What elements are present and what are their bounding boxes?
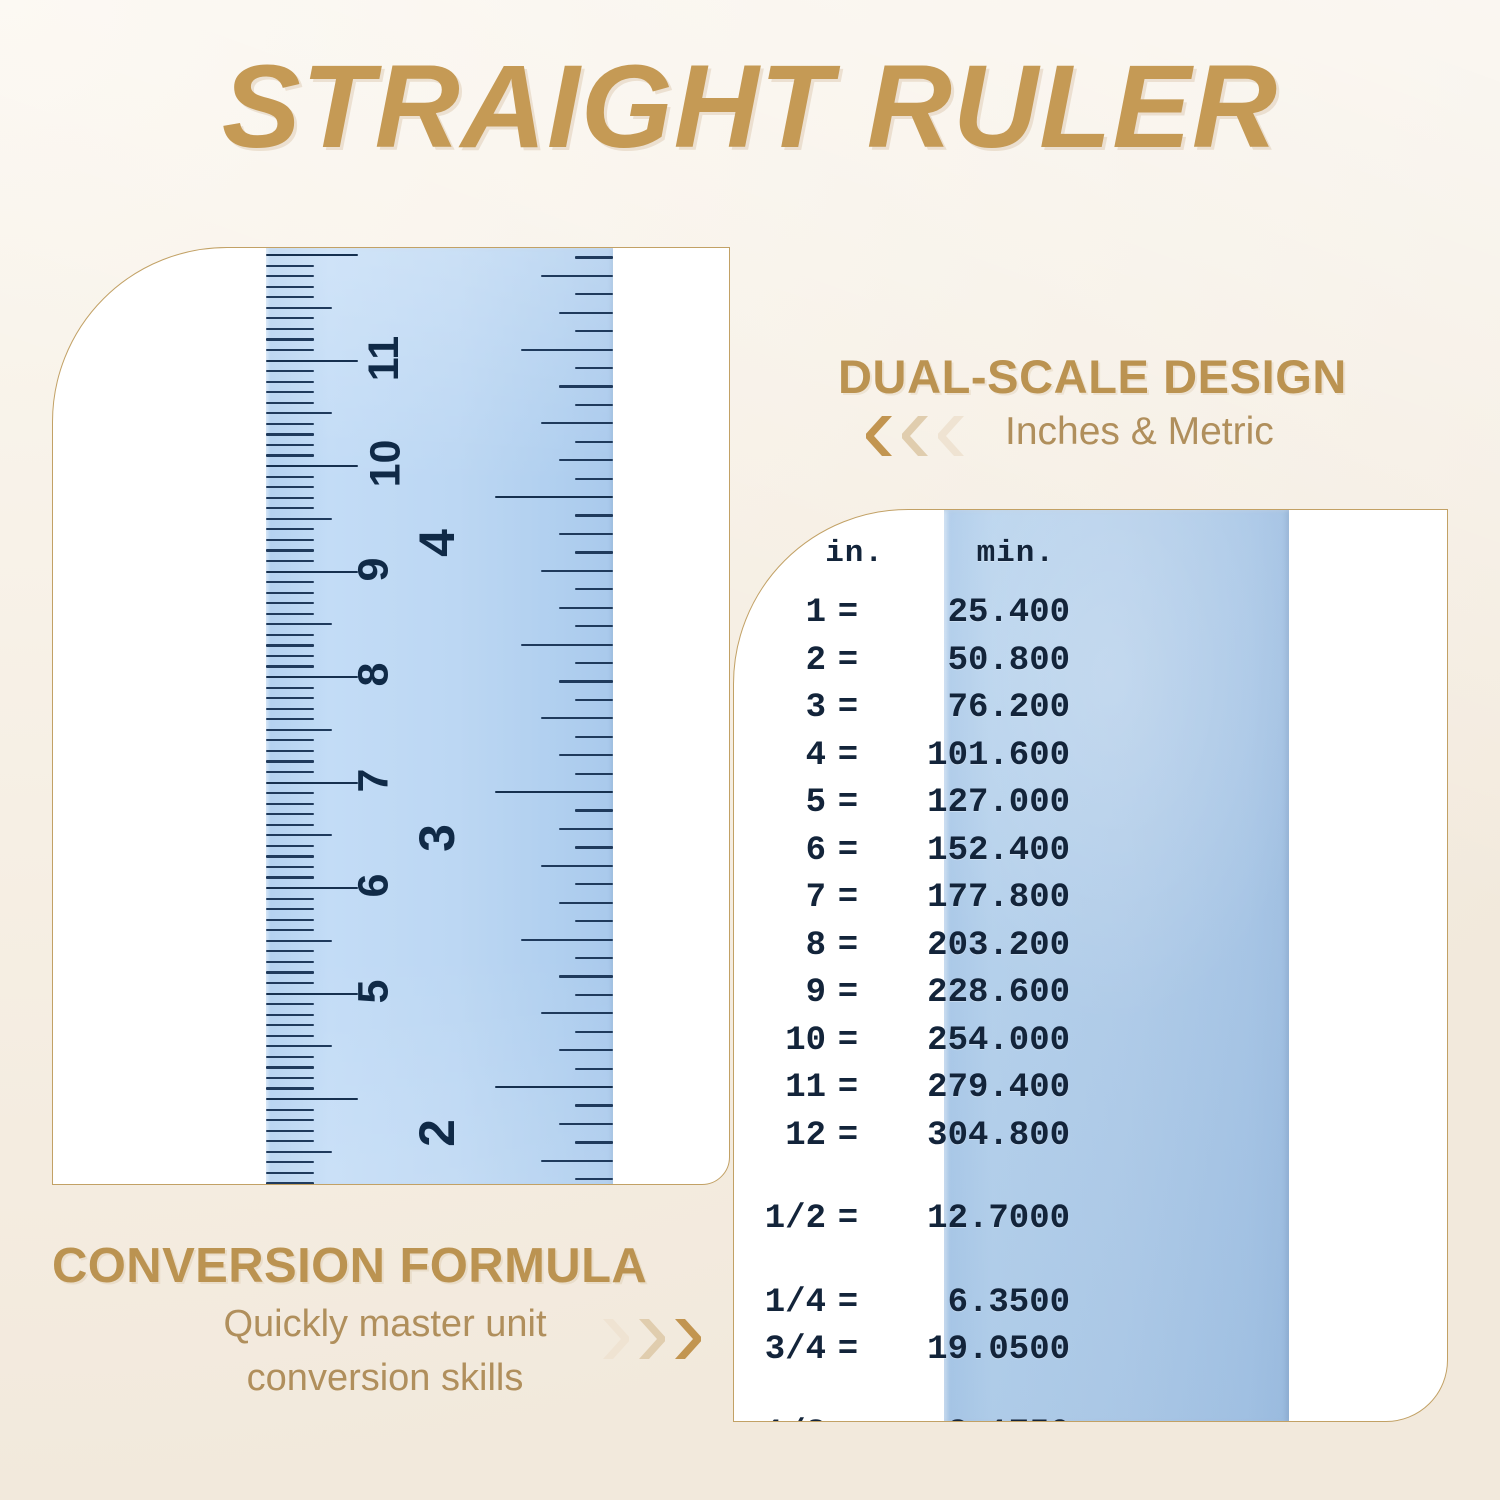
conversion-inches: 1/4	[734, 1284, 826, 1322]
equals-sign: =	[826, 1069, 870, 1107]
equals-sign: =	[826, 1331, 870, 1369]
metric-scale-number: 5	[349, 979, 398, 1003]
equals-sign: =	[826, 832, 870, 870]
conversion-inches: 2	[734, 642, 826, 680]
conversion-millimeters: 12.7000	[870, 1200, 1070, 1238]
conversion-millimeters: 127.000	[870, 784, 1070, 822]
dual-scale-heading: DUAL-SCALE DESIGN	[838, 349, 1347, 404]
conversion-inches: 3/4	[734, 1331, 826, 1369]
dual-scale-subtitle: Inches & Metric	[1005, 410, 1274, 454]
conversion-millimeters: 254.000	[870, 1022, 1070, 1060]
chevron-icon	[938, 414, 970, 458]
chevron-icon	[866, 414, 898, 458]
conversion-millimeters: 304.800	[870, 1117, 1070, 1155]
equals-sign: =	[826, 1022, 870, 1060]
conversion-inches: 7	[734, 879, 826, 917]
equals-sign: =	[826, 1200, 870, 1238]
metric-scale-number: 6	[349, 874, 398, 898]
conversion-inches: 3	[734, 689, 826, 727]
conversion-inches: 11	[734, 1069, 826, 1107]
conversion-row: 2=50.800	[734, 642, 1079, 680]
page-title: STRAIGHT RULER	[0, 48, 1500, 166]
equals-sign: =	[826, 1284, 870, 1322]
conversion-table: in.min. 1=25.4002=50.8003=76.2004=101.60…	[734, 510, 1079, 1422]
conversion-inches: 10	[734, 1022, 826, 1060]
conversion-row: 8=203.200	[734, 927, 1079, 965]
equals-sign: =	[826, 974, 870, 1012]
conversion-inches: 9	[734, 974, 826, 1012]
conversion-inches: 1/2	[734, 1200, 826, 1238]
conversion-millimeters: 19.0500	[870, 1331, 1070, 1369]
conversion-row: 5=127.000	[734, 784, 1079, 822]
inch-scale-number: 4	[408, 529, 466, 557]
equals-sign: =	[826, 1117, 870, 1155]
header-inches: in.	[734, 536, 884, 571]
conversion-row: 1/4=6.3500	[734, 1284, 1079, 1322]
equals-sign: =	[826, 784, 870, 822]
metric-scale-number: 8	[349, 663, 398, 687]
conversion-millimeters: 228.600	[870, 974, 1070, 1012]
conversion-subtitle-line2: conversion skills	[205, 1352, 565, 1406]
equals-sign: =	[826, 642, 870, 680]
chevron-icon	[669, 1317, 701, 1361]
conversion-inches: 5	[734, 784, 826, 822]
conversion-row: 6=152.400	[734, 832, 1079, 870]
conversion-row: 4=101.600	[734, 737, 1079, 775]
conversion-row: 3/4=19.0500	[734, 1331, 1079, 1369]
conversion-millimeters: 3.1750	[870, 1415, 1070, 1423]
chevron-icon	[633, 1317, 665, 1361]
conversion-row: 1/8=3.1750	[734, 1415, 1079, 1423]
equals-sign: =	[826, 689, 870, 727]
conversion-inches: 8	[734, 927, 826, 965]
metric-scale-number: 11	[360, 335, 409, 380]
equals-sign: =	[826, 737, 870, 775]
equals-sign: =	[826, 1415, 870, 1423]
conversion-millimeters: 279.400	[870, 1069, 1070, 1107]
conversion-heading: CONVERSION FORMULA	[52, 1238, 647, 1294]
conversion-millimeters: 177.800	[870, 879, 1070, 917]
conversion-chart-card: in.min. 1=25.4002=50.8003=76.2004=101.60…	[733, 509, 1448, 1422]
conversion-row: 1=25.400	[734, 594, 1079, 632]
conversion-millimeters: 101.600	[870, 737, 1070, 775]
conversion-subtitle-line1: Quickly master unit	[205, 1298, 565, 1352]
conversion-row: 3=76.200	[734, 689, 1079, 727]
conversion-subtitle: Quickly master unit conversion skills	[205, 1298, 565, 1406]
conversion-row: 10=254.000	[734, 1022, 1079, 1060]
metric-scale-number: 10	[361, 440, 410, 488]
conversion-millimeters: 6.3500	[870, 1284, 1070, 1322]
conversion-row: 11=279.400	[734, 1069, 1079, 1107]
inch-scale-number: 3	[408, 824, 466, 852]
conversion-inches: 1/8	[734, 1415, 826, 1423]
conversion-inches: 4	[734, 737, 826, 775]
chevron-icon	[597, 1317, 629, 1361]
header-millimeters: min.	[884, 536, 1055, 571]
conversion-inches: 6	[734, 832, 826, 870]
conversion-row: 9=228.600	[734, 974, 1079, 1012]
conversion-inches: 1	[734, 594, 826, 632]
conversion-inches: 12	[734, 1117, 826, 1155]
chevron-right-group	[597, 1317, 701, 1361]
metric-scale-number: 7	[349, 768, 398, 792]
conversion-millimeters: 25.400	[870, 594, 1070, 632]
metric-scale-number: 9	[349, 557, 398, 581]
chevron-left-group	[866, 414, 970, 458]
ruler-scale-numbers: 111098765432	[53, 248, 729, 1184]
conversion-row: 1/2=12.7000	[734, 1200, 1079, 1238]
conversion-millimeters: 203.200	[870, 927, 1070, 965]
conversion-table-header: in.min.	[734, 536, 1079, 571]
ruler-macro-card: 111098765432	[52, 247, 730, 1185]
conversion-millimeters: 50.800	[870, 642, 1070, 680]
conversion-row: 12=304.800	[734, 1117, 1079, 1155]
equals-sign: =	[826, 594, 870, 632]
conversion-millimeters: 152.400	[870, 832, 1070, 870]
equals-sign: =	[826, 879, 870, 917]
chevron-icon	[902, 414, 934, 458]
conversion-row: 7=177.800	[734, 879, 1079, 917]
equals-sign: =	[826, 927, 870, 965]
conversion-millimeters: 76.200	[870, 689, 1070, 727]
inch-scale-number: 2	[408, 1119, 466, 1147]
